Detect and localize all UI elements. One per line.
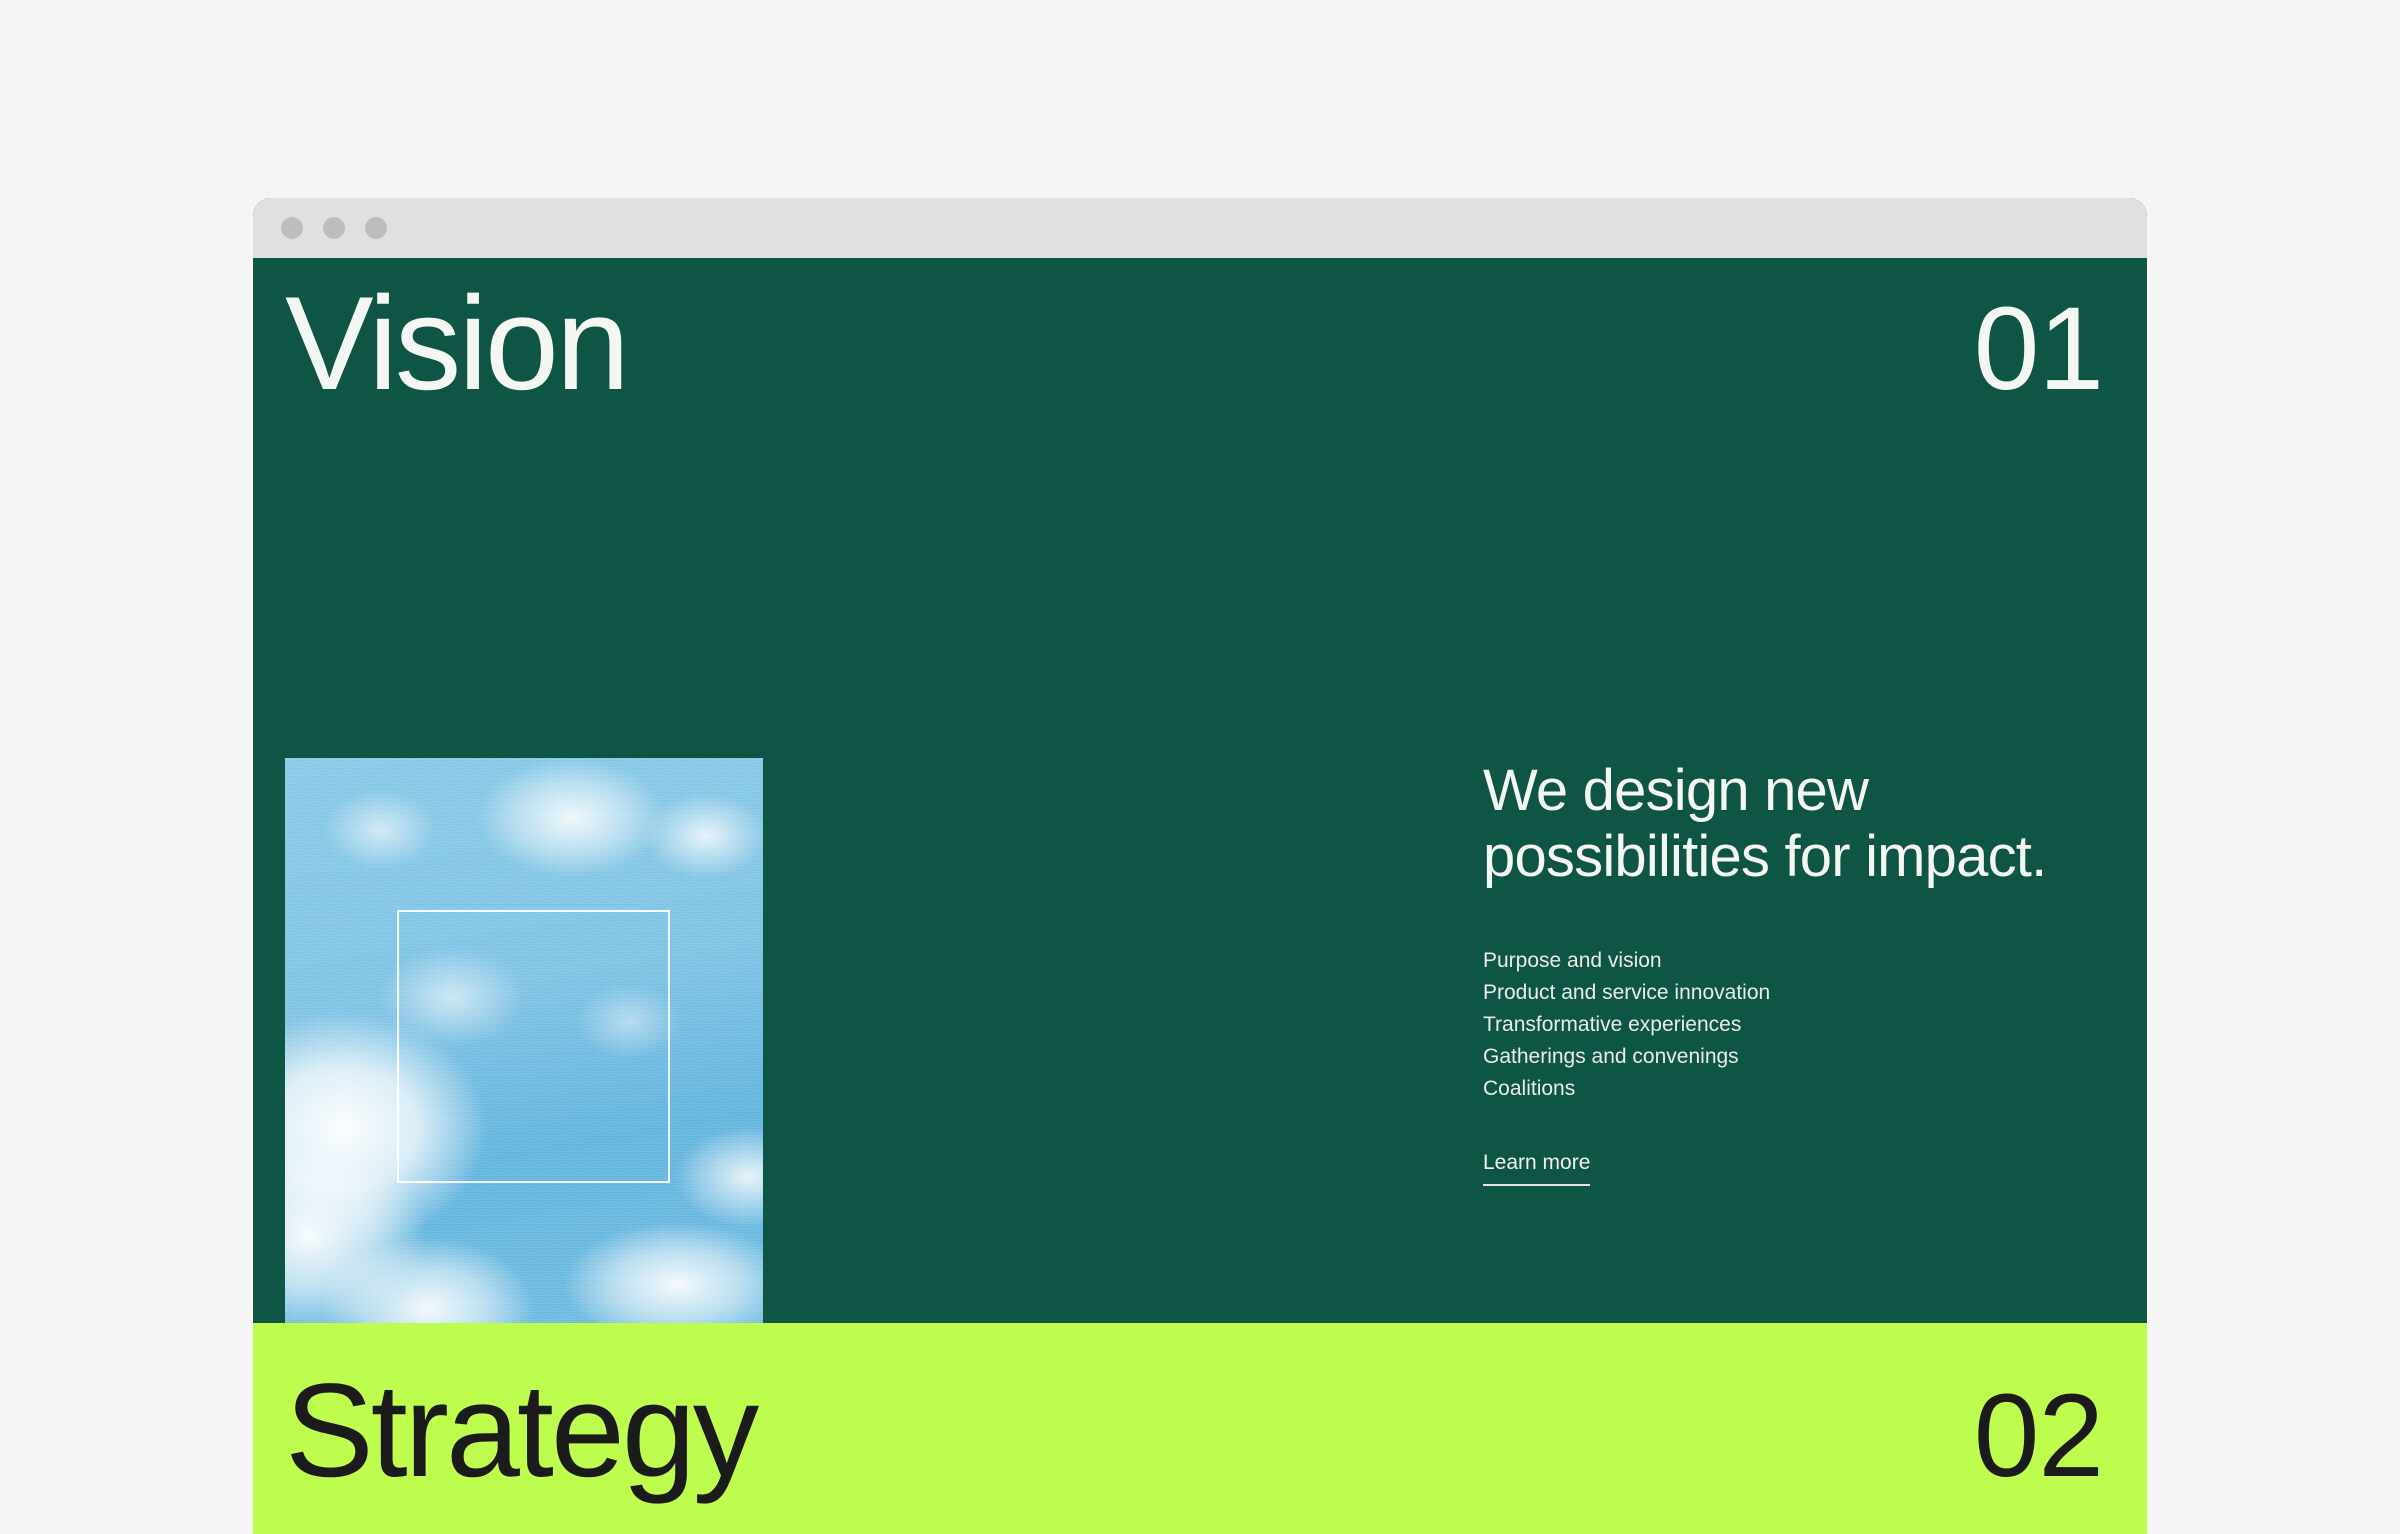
vision-section-header: Vision 01 [253,278,2147,411]
section-vision: Vision 01 We design new possibilities fo… [253,258,2147,1323]
vision-copy-block: We design new possibilities for impact. … [1483,758,2103,1186]
strategy-section-header: Strategy 02 [253,1365,2147,1498]
list-item: Purpose and vision [1483,945,2103,977]
minimize-window-icon[interactable] [323,217,345,239]
square-frame-icon [397,910,669,1182]
maximize-window-icon[interactable] [365,217,387,239]
section-title-strategy: Strategy [285,1365,756,1498]
list-item: Coalitions [1483,1073,2103,1105]
list-item: Transformative experiences [1483,1009,2103,1041]
list-item: Gatherings and convenings [1483,1041,2103,1073]
close-window-icon[interactable] [281,217,303,239]
browser-titlebar [253,198,2147,258]
list-item: Product and service innovation [1483,977,2103,1009]
vision-capability-list: Purpose and vision Product and service i… [1483,945,2103,1105]
browser-window: Vision 01 We design new possibilities fo… [253,198,2147,1534]
page-title: Vision [285,278,627,411]
section-number-vision: 01 [1974,290,2103,408]
section-strategy: Strategy 02 [253,1323,2147,1534]
vision-headline: We design new possibilities for impact. [1483,758,2103,890]
section-number-strategy: 02 [1974,1377,2103,1495]
learn-more-link[interactable]: Learn more [1483,1151,1590,1186]
vision-cloud-image [285,758,763,1356]
